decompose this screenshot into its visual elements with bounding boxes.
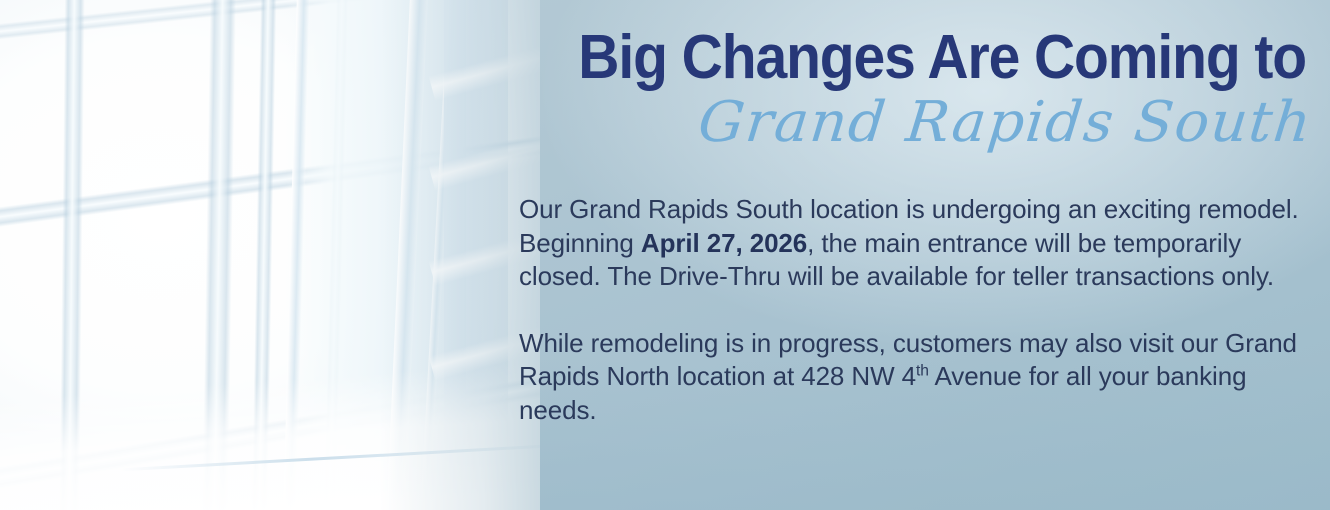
- promo-banner: Big Changes Are Coming to Grand Rapids S…: [0, 0, 1330, 510]
- script-subtitle: Grand Rapids South: [0, 92, 1315, 154]
- headline: Big Changes Are Coming to: [104, 27, 1306, 89]
- ordinal-suffix: th: [916, 362, 929, 379]
- body-copy: Our Grand Rapids South location is under…: [519, 193, 1319, 427]
- paragraph-remodel-notice: Our Grand Rapids South location is under…: [519, 193, 1319, 294]
- remodel-start-date: April 27, 2026: [641, 228, 807, 258]
- paragraph-alternate-location: While remodeling is in progress, custome…: [519, 327, 1319, 428]
- banner-content: Big Changes Are Coming to Grand Rapids S…: [0, 0, 1330, 510]
